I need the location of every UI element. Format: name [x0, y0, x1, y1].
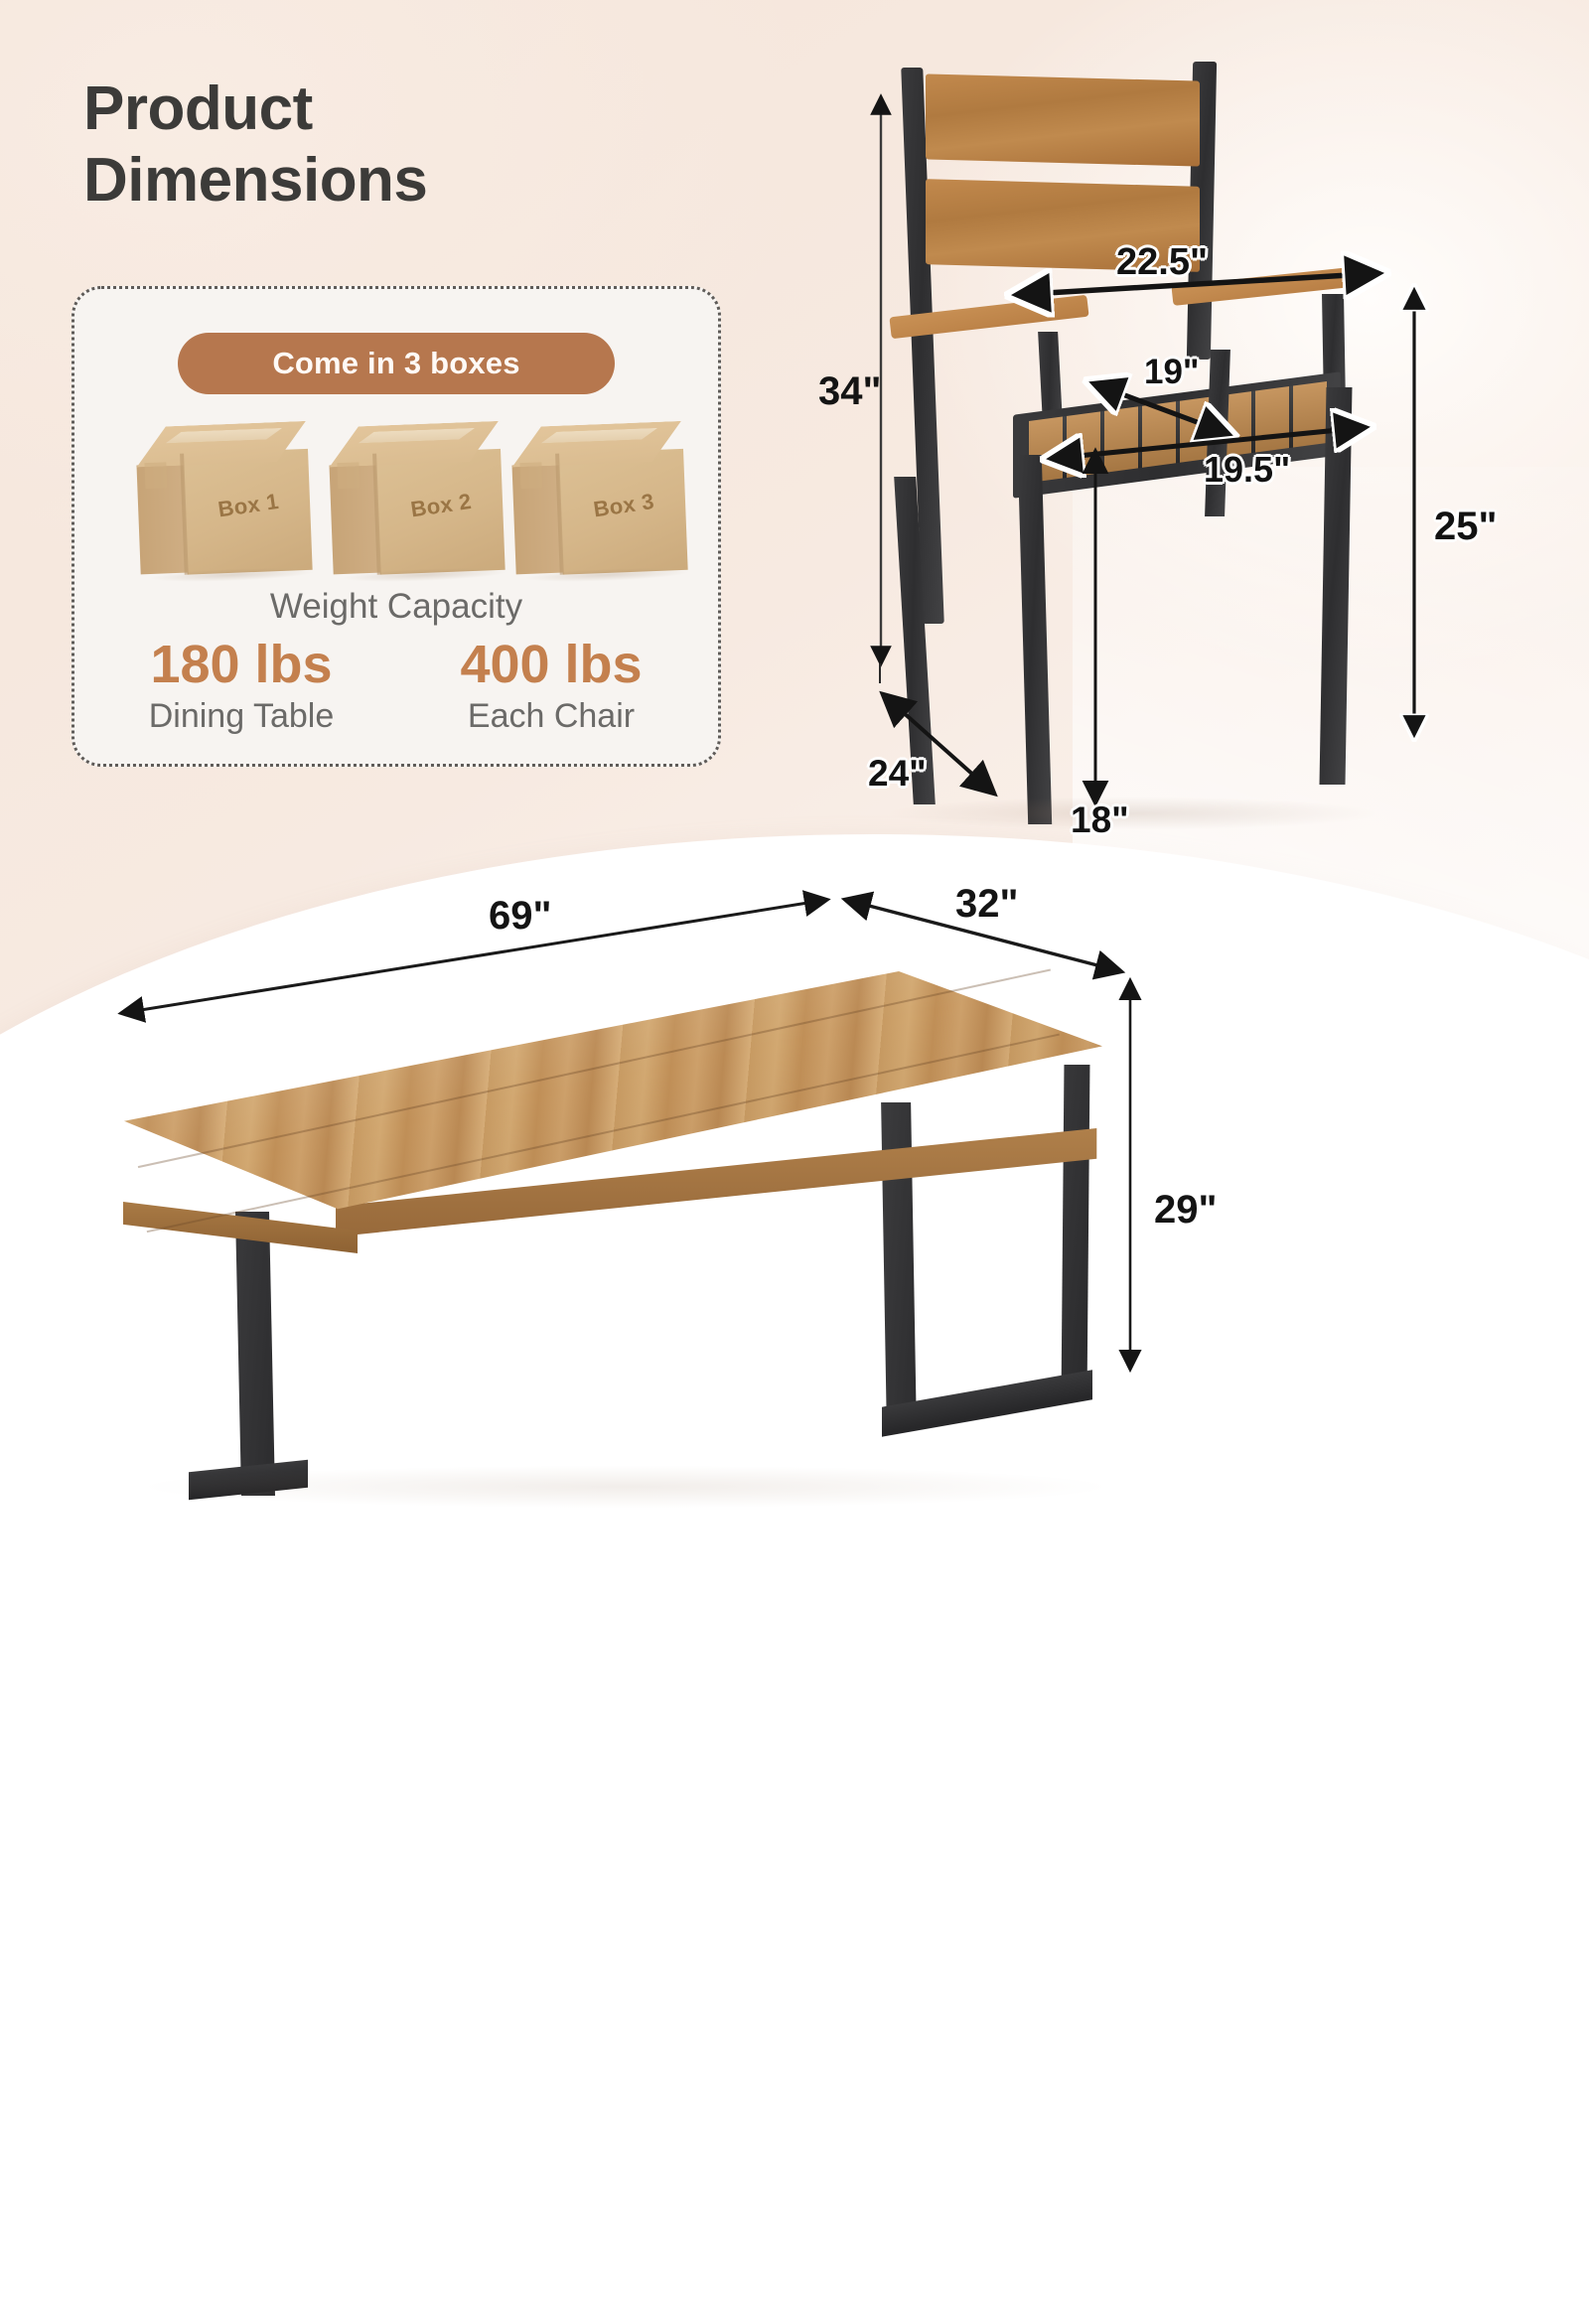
box-flap [144, 462, 167, 489]
page-title-line-2: Dimensions [83, 145, 719, 217]
table-width-label: 32" [955, 882, 1018, 927]
chair-seat-height-label: 18" [1071, 799, 1129, 841]
chair-seat-width-label: 19.5" [1204, 449, 1290, 491]
table-leg-left [235, 1212, 275, 1496]
chair-shadow [884, 797, 1380, 830]
weight-capacity-chair-label: Each Chair [402, 696, 700, 737]
weight-capacity-table: 180 lbs Dining Table [92, 635, 390, 736]
dining-chair-illustration [874, 60, 1430, 854]
info-card: Come in 3 boxes Box 1 Box 2 Box 3 Weight… [72, 286, 721, 767]
weight-capacity-chair-value: 400 lbs [402, 635, 700, 696]
table-leg-right-back [1062, 1065, 1090, 1398]
table-height-label: 29" [1154, 1188, 1217, 1233]
weight-capacity-chair: 400 lbs Each Chair [402, 635, 700, 736]
chair-width-label: 22.5" [1116, 241, 1208, 284]
dining-table-illustration [89, 914, 1142, 1470]
chair-depth-label: 24" [868, 753, 927, 795]
boxes-badge: Come in 3 boxes [178, 333, 615, 394]
chair-leg-back-right [1205, 350, 1230, 516]
weight-capacity-title: Weight Capacity [74, 587, 718, 627]
weight-capacity-table-label: Dining Table [92, 696, 390, 737]
weight-capacity-table-value: 180 lbs [92, 635, 390, 696]
boxes-badge-label: Come in 3 boxes [272, 346, 519, 381]
box-flap [519, 462, 542, 489]
page-title-line-1: Product [83, 73, 719, 145]
chair-back-slat-upper [926, 73, 1200, 166]
page-title: Product Dimensions [83, 73, 719, 217]
chair-seat-depth-label: 19" [1144, 353, 1200, 392]
table-shadow [149, 1466, 1102, 1508]
chair-height-label: 34" [818, 369, 881, 414]
shipping-box-icon: Box 1 [127, 420, 328, 584]
chair-arm-height-label: 25" [1434, 505, 1497, 549]
chair-leg-front-right [1320, 387, 1353, 785]
shipping-box-icon: Box 2 [320, 420, 520, 584]
chair-leg-front-left [1018, 455, 1052, 824]
shipping-box-icon: Box 3 [503, 420, 703, 584]
table-length-label: 69" [489, 894, 551, 939]
box-flap [337, 462, 360, 489]
